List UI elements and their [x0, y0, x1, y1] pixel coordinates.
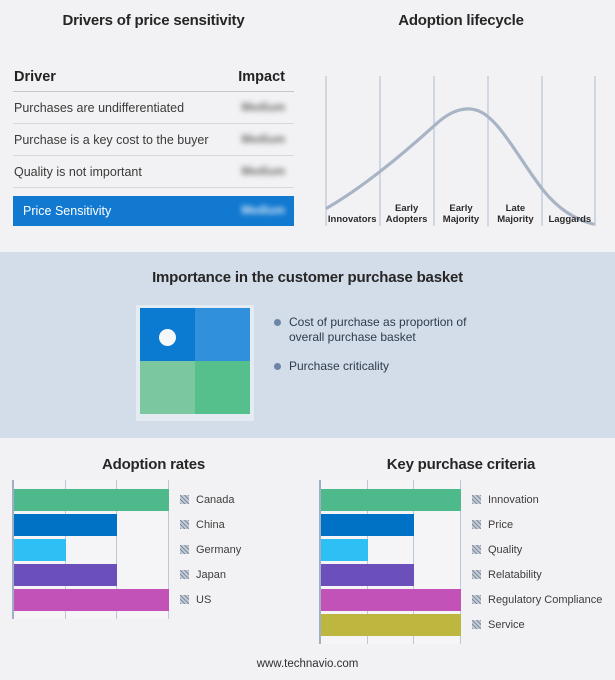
lifecycle-panel: Adoption lifecycle Innovators Early Adop… — [307, 0, 615, 252]
legend-swatch-icon — [472, 495, 481, 504]
legend-swatch-icon — [180, 495, 189, 504]
drivers-panel: Drivers of price sensitivity Driver Impa… — [0, 0, 307, 252]
driver-name: Purchases are undifferentiated — [14, 101, 184, 115]
table-row-highlighted[interactable]: Price Sensitivity Medium — [13, 196, 294, 226]
legend-swatch-icon — [180, 545, 189, 554]
legend-item-price[interactable]: Price — [472, 519, 513, 531]
driver-name: Purchase is a key cost to the buyer — [14, 133, 209, 147]
legend-swatch-icon — [472, 545, 481, 554]
lifecycle-label-late-majority: Late Majority — [488, 203, 542, 225]
legend-label: Canada — [196, 494, 235, 506]
legend-label: Germany — [196, 544, 241, 556]
legend-label: US — [196, 594, 211, 606]
drivers-table: Driver Impact Purchases are undifferenti… — [13, 62, 294, 226]
purchase-basket-band: Importance in the customer purchase bask… — [0, 252, 615, 438]
legend-item-us[interactable]: US — [180, 594, 211, 606]
legend-item-innovation[interactable]: Innovation — [472, 494, 539, 506]
table-header-row: Driver Impact — [13, 62, 294, 92]
driver-name: Quality is not important — [14, 165, 142, 179]
position-marker-dot — [159, 329, 176, 346]
legend-swatch-icon — [472, 620, 481, 629]
legend-label: Japan — [196, 569, 226, 581]
drivers-title: Drivers of price sensitivity — [0, 12, 307, 29]
driver-impact: Medium — [242, 102, 285, 114]
legend-item-regulatory-compliance[interactable]: Regulatory Compliance — [472, 594, 602, 606]
bar-price[interactable] — [321, 514, 414, 536]
legend-label: Price — [488, 519, 513, 531]
bar-regulatory-compliance[interactable] — [321, 589, 461, 611]
table-row[interactable]: Purchase is a key cost to the buyer Medi… — [13, 124, 294, 156]
legend-label: Service — [488, 619, 525, 631]
legend-swatch-icon — [472, 595, 481, 604]
bullet-icon — [274, 319, 281, 326]
purchase-criteria-title: Key purchase criteria — [307, 456, 615, 473]
legend-label: China — [196, 519, 225, 531]
basket-legend-label: Purchase criticality — [289, 359, 389, 374]
legend-item-china[interactable]: China — [180, 519, 225, 531]
basket-legend-label: Cost of purchase as proportion of overal… — [289, 315, 499, 345]
legend-item-service[interactable]: Service — [472, 619, 525, 631]
legend-label: Innovation — [488, 494, 539, 506]
bar-canada[interactable] — [14, 489, 169, 511]
legend-item-quality[interactable]: Quality — [472, 544, 522, 556]
table-row[interactable]: Quality is not important Medium — [13, 156, 294, 188]
lifecycle-label-laggards: Laggards — [543, 214, 597, 225]
purchase-criteria-plot-area — [319, 480, 461, 644]
quadrant-top-right[interactable] — [195, 308, 250, 361]
legend-label: Quality — [488, 544, 522, 556]
bar-japan[interactable] — [14, 564, 117, 586]
infographic-page: Drivers of price sensitivity Driver Impa… — [0, 0, 615, 680]
purchase-criteria-chart: InnovationPriceQualityRelatabilityRegula… — [319, 480, 472, 644]
driver-name: Price Sensitivity — [23, 204, 111, 218]
adoption-rates-panel: Adoption rates CanadaChinaGermanyJapanUS — [0, 438, 307, 662]
column-header-driver: Driver — [14, 69, 56, 85]
basket-legend: Cost of purchase as proportion of overal… — [274, 315, 574, 388]
lifecycle-chart: Innovators Early Adopters Early Majority… — [325, 58, 597, 238]
lifecycle-label-early-majority: Early Majority — [434, 203, 488, 225]
list-item: Purchase criticality — [274, 359, 574, 374]
bar-relatability[interactable] — [321, 564, 414, 586]
legend-item-germany[interactable]: Germany — [180, 544, 241, 556]
adoption-rates-title: Adoption rates — [0, 456, 307, 473]
legend-swatch-icon — [180, 595, 189, 604]
adoption-rates-chart: CanadaChinaGermanyJapanUS — [12, 480, 180, 619]
driver-impact: Medium — [242, 134, 285, 146]
table-row[interactable]: Purchases are undifferentiated Medium — [13, 92, 294, 124]
legend-item-canada[interactable]: Canada — [180, 494, 235, 506]
bar-germany[interactable] — [14, 539, 66, 561]
legend-swatch-icon — [180, 520, 189, 529]
bar-us[interactable] — [14, 589, 169, 611]
bar-quality[interactable] — [321, 539, 368, 561]
driver-impact: Medium — [242, 205, 285, 217]
lifecycle-label-early-adopters: Early Adopters — [379, 203, 433, 225]
legend-item-japan[interactable]: Japan — [180, 569, 226, 581]
column-header-impact: Impact — [238, 69, 285, 85]
lifecycle-title: Adoption lifecycle — [307, 12, 615, 29]
legend-item-relatability[interactable]: Relatability — [472, 569, 542, 581]
purchase-criteria-panel: Key purchase criteria InnovationPriceQua… — [307, 438, 615, 662]
lifecycle-axis-labels: Innovators Early Adopters Early Majority… — [325, 203, 597, 225]
lifecycle-label-innovators: Innovators — [325, 214, 379, 225]
legend-swatch-icon — [472, 570, 481, 579]
bar-service[interactable] — [321, 614, 461, 636]
bullet-icon — [274, 363, 281, 370]
quadrant-grid — [140, 308, 250, 414]
list-item: Cost of purchase as proportion of overal… — [274, 315, 574, 345]
legend-label: Relatability — [488, 569, 542, 581]
basket-title: Importance in the customer purchase bask… — [0, 269, 615, 286]
quadrant-bottom-left[interactable] — [140, 361, 195, 414]
driver-impact: Medium — [242, 166, 285, 178]
bar-innovation[interactable] — [321, 489, 461, 511]
bar-china[interactable] — [14, 514, 117, 536]
adoption-rates-plot-area — [12, 480, 169, 619]
quadrant-bottom-right[interactable] — [195, 361, 250, 414]
legend-swatch-icon — [180, 570, 189, 579]
legend-label: Regulatory Compliance — [488, 594, 602, 606]
legend-swatch-icon — [472, 520, 481, 529]
quadrant-matrix — [136, 305, 254, 421]
footer-url: www.technavio.com — [0, 658, 615, 670]
